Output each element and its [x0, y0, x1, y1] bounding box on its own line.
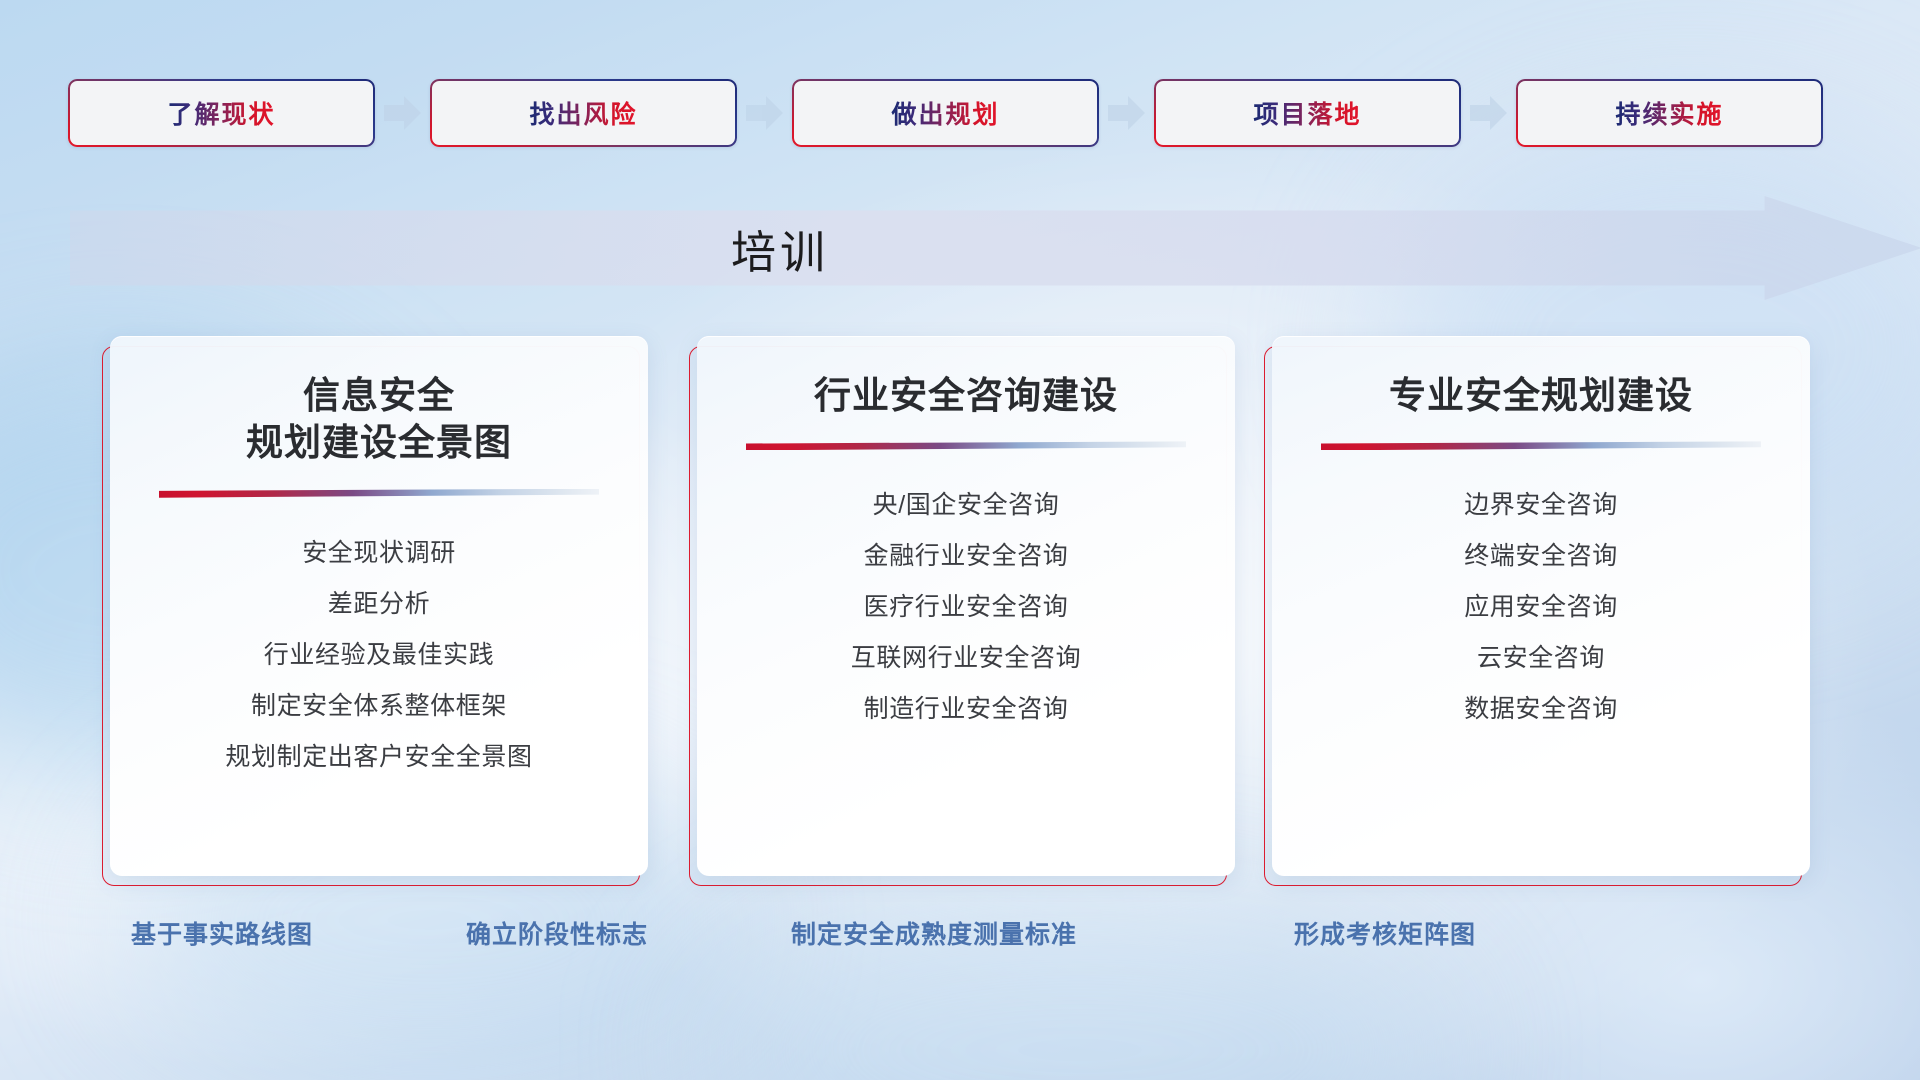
card-3[interactable]: 专业安全规划建设 边界安全咨询 终端安全咨询 应用安全咨询 云安全咨询 数据安全…	[1272, 336, 1810, 876]
card-divider	[159, 489, 599, 498]
arrow-right-icon	[384, 96, 421, 130]
step-box-5[interactable]: 持续实施	[1516, 79, 1823, 147]
step-box-3[interactable]: 做出规划	[792, 79, 1099, 147]
training-banner-label: 培训	[70, 196, 1490, 300]
list-item: 规划制定出客户安全全景图	[225, 732, 532, 783]
list-item: 边界安全咨询	[1464, 480, 1618, 531]
step-label: 了解现状	[167, 95, 275, 131]
list-item: 金融行业安全咨询	[864, 531, 1069, 582]
card-title: 专业安全规划建设	[1389, 372, 1693, 419]
step-label: 项目落地	[1253, 95, 1361, 131]
bottom-label: 确立阶段性标志	[466, 915, 648, 951]
step-box-4[interactable]: 项目落地	[1154, 79, 1461, 147]
process-step-row: 了解现状 找出风险 做出规划 项目落地 持续实施	[68, 78, 1858, 148]
list-item: 医疗行业安全咨询	[864, 582, 1069, 633]
card-1[interactable]: 信息安全 规划建设全景图 安全现状调研 差距分析 行业经验及最佳实践 制定安全体…	[110, 336, 648, 876]
list-item: 云安全咨询	[1477, 633, 1605, 684]
training-banner: 培训	[70, 196, 1920, 300]
list-item: 央/国企安全咨询	[873, 480, 1060, 531]
card-surface: 专业安全规划建设 边界安全咨询 终端安全咨询 应用安全咨询 云安全咨询 数据安全…	[1272, 336, 1810, 876]
list-item: 互联网行业安全咨询	[851, 633, 1081, 684]
card-surface: 行业安全咨询建设 央/国企安全咨询 金融行业安全咨询 医疗行业安全咨询 互联网行…	[697, 336, 1235, 876]
list-item: 制造行业安全咨询	[864, 684, 1069, 735]
step-label: 找出风险	[529, 95, 637, 131]
card-list: 边界安全咨询 终端安全咨询 应用安全咨询 云安全咨询 数据安全咨询	[1298, 480, 1784, 735]
bottom-label: 基于事实路线图	[131, 915, 313, 951]
arrow-right-icon	[1108, 96, 1145, 130]
bottom-label: 形成考核矩阵图	[1294, 915, 1476, 951]
card-surface: 信息安全 规划建设全景图 安全现状调研 差距分析 行业经验及最佳实践 制定安全体…	[110, 336, 648, 876]
card-row: 信息安全 规划建设全景图 安全现状调研 差距分析 行业经验及最佳实践 制定安全体…	[0, 336, 1920, 876]
card-title: 行业安全咨询建设	[814, 372, 1118, 419]
list-item: 数据安全咨询	[1464, 684, 1618, 735]
bottom-label: 制定安全成熟度测量标准	[791, 915, 1077, 951]
card-2[interactable]: 行业安全咨询建设 央/国企安全咨询 金融行业安全咨询 医疗行业安全咨询 互联网行…	[697, 336, 1235, 876]
list-item: 行业经验及最佳实践	[264, 630, 494, 681]
list-item: 安全现状调研	[302, 528, 456, 579]
step-label: 持续实施	[1615, 95, 1723, 131]
step-box-2[interactable]: 找出风险	[430, 79, 737, 147]
card-title: 信息安全 规划建设全景图	[246, 372, 512, 467]
list-item: 应用安全咨询	[1464, 582, 1618, 633]
arrow-right-icon	[1470, 96, 1507, 130]
card-divider	[1321, 441, 1761, 450]
bottom-label-row: 基于事实路线图 确立阶段性标志 制定安全成熟度测量标准 形成考核矩阵图	[0, 915, 1920, 965]
arrow-right-icon	[746, 96, 783, 130]
list-item: 终端安全咨询	[1464, 531, 1618, 582]
card-list: 央/国企安全咨询 金融行业安全咨询 医疗行业安全咨询 互联网行业安全咨询 制造行…	[723, 480, 1209, 735]
list-item: 差距分析	[328, 579, 430, 630]
card-list: 安全现状调研 差距分析 行业经验及最佳实践 制定安全体系整体框架 规划制定出客户…	[136, 528, 622, 783]
step-label: 做出规划	[891, 95, 999, 131]
card-divider	[746, 441, 1186, 450]
infographic-canvas: 了解现状 找出风险 做出规划 项目落地 持续实施 培训	[0, 0, 1920, 1080]
list-item: 制定安全体系整体框架	[251, 681, 507, 732]
step-box-1[interactable]: 了解现状	[68, 79, 375, 147]
